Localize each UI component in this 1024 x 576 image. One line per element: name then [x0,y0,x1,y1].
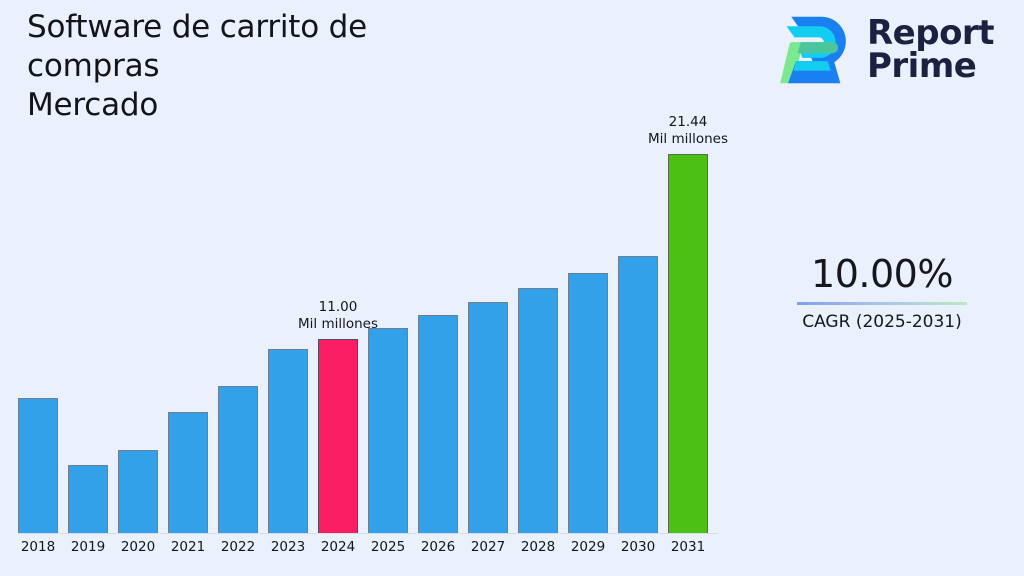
chart-panel: Software de carrito de compras Mercado 1… [0,0,740,576]
x-tick-2031: 2031 [662,539,714,555]
x-axis-baseline [18,533,718,534]
bar-rect-2026[interactable] [418,315,458,533]
bar-rect-2030[interactable] [618,256,658,533]
bar-rect-2022[interactable] [218,386,258,533]
x-tick-2026: 2026 [412,539,464,555]
bar-2019[interactable] [68,465,108,533]
x-tick-2022: 2022 [212,539,264,555]
x-tick-2021: 2021 [162,539,214,555]
bar-2025[interactable] [368,328,408,533]
cagr-value: 10.00% [740,252,1024,296]
bar-2020[interactable] [118,450,158,533]
bar-rect-2025[interactable] [368,328,408,533]
bar-rect-2019[interactable] [68,465,108,533]
logo: Report Prime [775,12,994,88]
bar-rect-2021[interactable] [168,412,208,533]
x-tick-2029: 2029 [562,539,614,555]
x-tick-2024: 2024 [312,539,364,555]
bar-rect-2031[interactable] [668,154,708,533]
x-tick-2025: 2025 [362,539,414,555]
x-tick-2030: 2030 [612,539,664,555]
bar-2026[interactable] [418,315,458,533]
bar-2029[interactable] [568,273,608,533]
bar-rect-2023[interactable] [268,349,308,533]
page-title: Software de carrito de compras Mercado [27,8,427,125]
bar-chart-plot: 11.00 Mil millones21.44 Mil millones [0,130,740,534]
bar-2031[interactable]: 21.44 Mil millones [668,154,708,533]
bar-2024[interactable]: 11.00 Mil millones [318,339,358,533]
bar-2030[interactable] [618,256,658,533]
bar-rect-2027[interactable] [468,302,508,533]
report-prime-r-logo-icon [775,12,855,88]
bar-rect-2018[interactable] [18,398,58,533]
x-axis-tick-labels: 2018201920202021202220232024202520262027… [18,539,718,563]
chart-page: Software de carrito de compras Mercado 1… [0,0,1024,576]
bar-rect-2028[interactable] [518,288,558,533]
x-tick-2018: 2018 [12,539,64,555]
cagr-caption: CAGR (2025-2031) [740,311,1024,333]
cagr-divider-rule [797,302,967,305]
bar-2023[interactable] [268,349,308,533]
x-tick-2027: 2027 [462,539,514,555]
x-tick-2023: 2023 [262,539,314,555]
bar-2018[interactable] [18,398,58,533]
bar-2027[interactable] [468,302,508,533]
brand-panel: Report Prime 10.00% CAGR (2025-2031) [740,0,1024,576]
bar-rect-2020[interactable] [118,450,158,533]
x-tick-2019: 2019 [62,539,114,555]
bar-2021[interactable] [168,412,208,533]
logo-wordmark: Report Prime [867,17,994,84]
bar-rect-2029[interactable] [568,273,608,533]
x-tick-2028: 2028 [512,539,564,555]
bar-2028[interactable] [518,288,558,533]
x-tick-2020: 2020 [112,539,164,555]
bar-2022[interactable] [218,386,258,533]
bar-rect-2024[interactable] [318,339,358,533]
bars-container: 11.00 Mil millones21.44 Mil millones [18,130,716,534]
cagr-block: 10.00% CAGR (2025-2031) [740,252,1024,333]
